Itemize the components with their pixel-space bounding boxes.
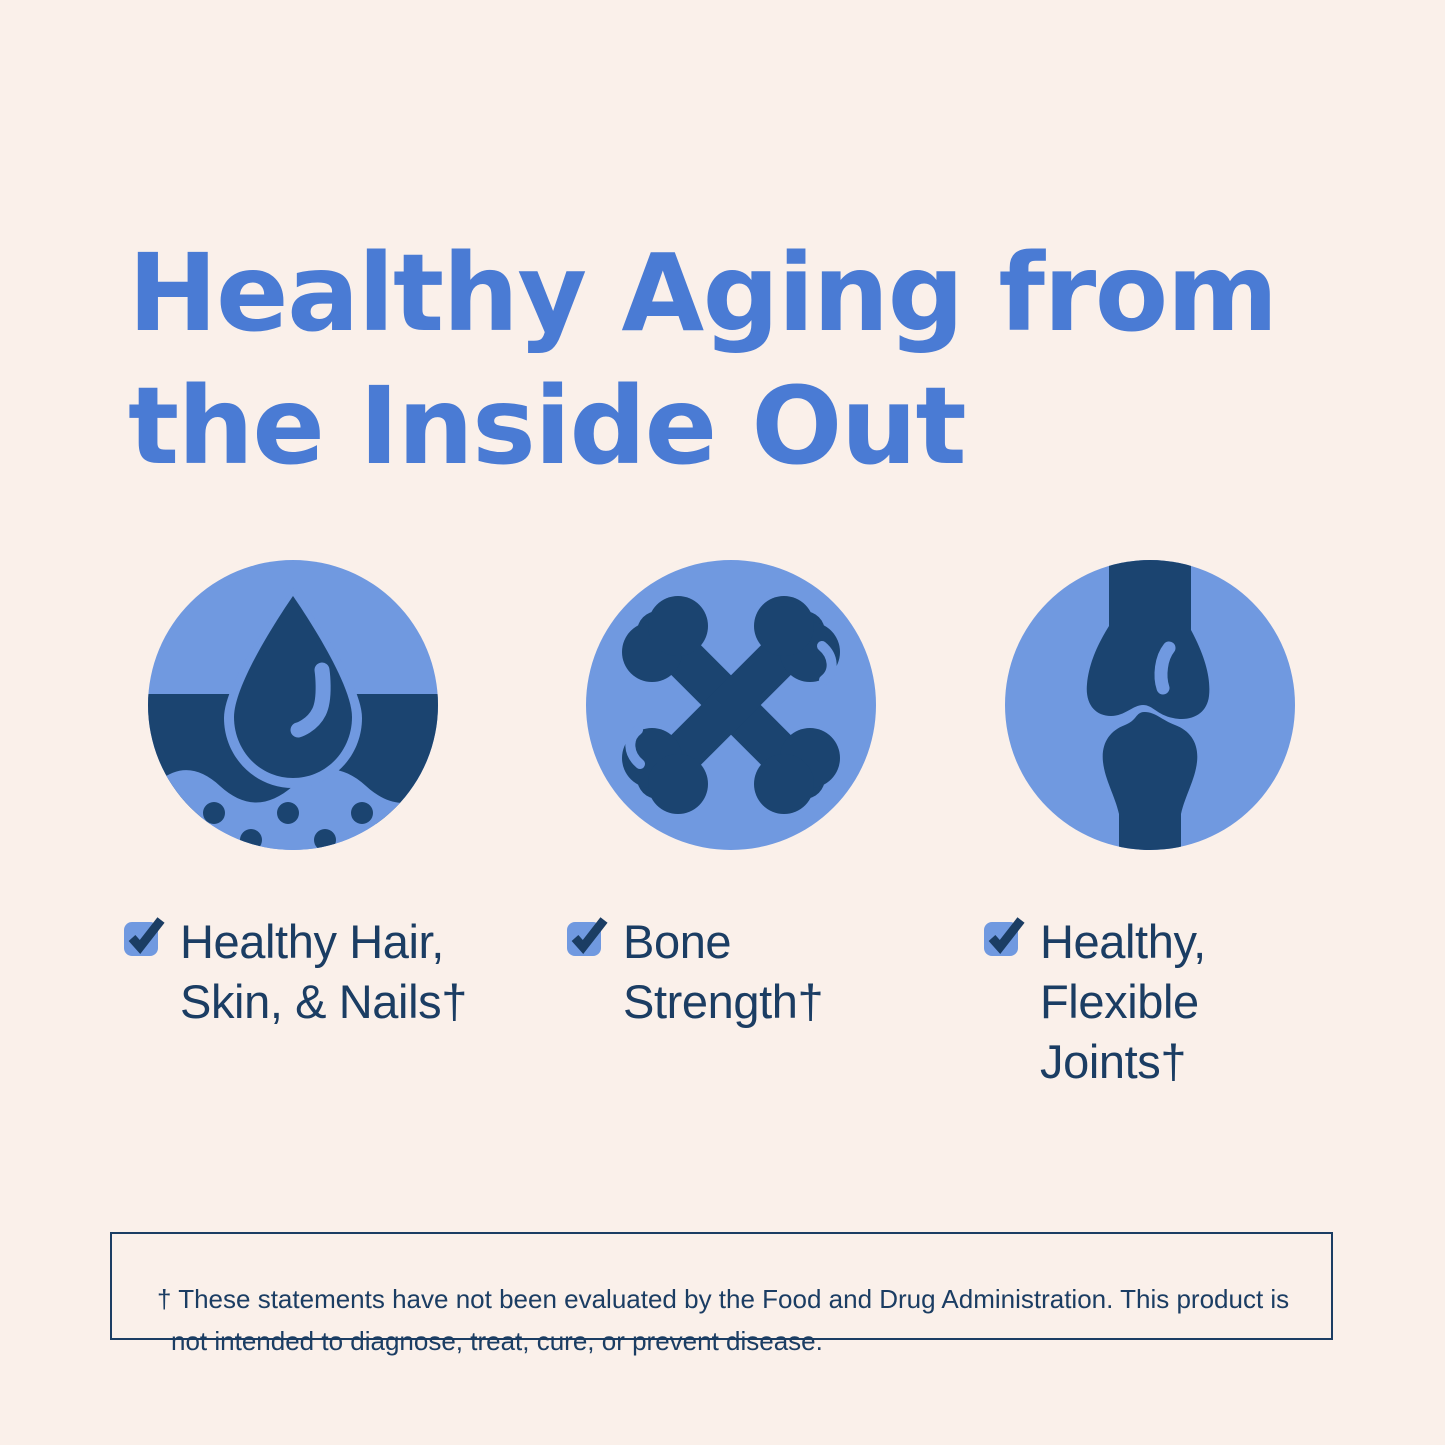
promo-graphic: Healthy Aging from the Inside Out bbox=[0, 0, 1445, 1445]
benefit-label-line-1: Healthy, bbox=[1040, 915, 1206, 968]
benefit-label-line-2: Skin, & Nails† bbox=[180, 975, 467, 1028]
benefits-row: Healthy Hair, Skin, & Nails† bbox=[0, 560, 1445, 1120]
benefit-label: Healthy, Flexible Joints† bbox=[1040, 912, 1206, 1092]
water-droplet-skin-hydration-icon bbox=[148, 560, 438, 850]
benefit-item-flexible-joints: Healthy, Flexible Joints† bbox=[970, 560, 1390, 850]
benefit-label: Healthy Hair, Skin, & Nails† bbox=[180, 912, 467, 1032]
benefit-check-row: Healthy Hair, Skin, & Nails† bbox=[124, 912, 467, 1032]
benefit-check-row: Healthy, Flexible Joints† bbox=[984, 912, 1206, 1092]
disclaimer-line-1: † These statements have not been evaluat… bbox=[157, 1284, 1289, 1314]
benefit-check-row: Bone Strength† bbox=[567, 912, 823, 1032]
page-title-line-1: Healthy Aging from bbox=[128, 228, 1358, 361]
benefit-label-line-1: Bone bbox=[623, 915, 731, 968]
benefit-item-hair-skin-nails: Healthy Hair, Skin, & Nails† bbox=[110, 560, 530, 850]
benefit-label-line-2: Strength† bbox=[623, 975, 823, 1028]
check-icon bbox=[567, 922, 601, 956]
benefit-label-line-3: Joints† bbox=[1040, 1035, 1186, 1088]
page-title-line-2: the Inside Out bbox=[128, 361, 1358, 494]
check-icon bbox=[124, 922, 158, 956]
benefit-label-line-1: Healthy Hair, bbox=[180, 915, 444, 968]
disclaimer-line-2: not intended to diagnose, treat, cure, o… bbox=[157, 1320, 1297, 1362]
disclaimer-text: † These statements have not been evaluat… bbox=[157, 1278, 1297, 1362]
crossed-bones-icon bbox=[586, 560, 876, 850]
check-icon bbox=[984, 922, 1018, 956]
benefit-label: Bone Strength† bbox=[623, 912, 823, 1032]
page-title: Healthy Aging from the Inside Out bbox=[128, 228, 1358, 494]
knee-joint-icon bbox=[1005, 560, 1295, 850]
disclaimer-box: † These statements have not been evaluat… bbox=[110, 1232, 1333, 1340]
benefit-label-line-2: Flexible bbox=[1040, 975, 1199, 1028]
benefit-item-bone-strength: Bone Strength† bbox=[553, 560, 973, 850]
